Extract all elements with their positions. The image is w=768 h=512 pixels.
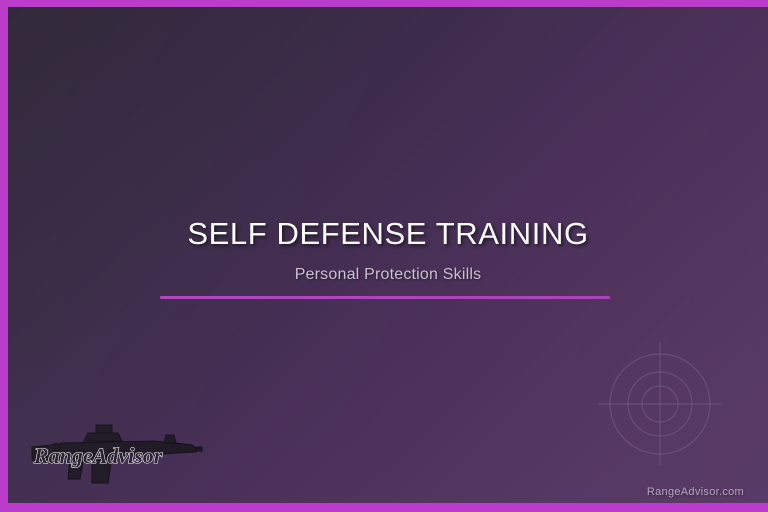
logo-wordmark: RangeAdvisor [33,443,163,468]
crosshair-target-icon [592,336,728,472]
accent-divider [160,296,610,299]
watermark-text: RangeAdvisor.com [647,486,744,498]
border-left [0,0,8,512]
border-top [0,0,768,7]
rifle-silhouette-icon: RangeAdvisor [26,419,204,491]
title-block: SELF DEFENSE TRAINING Personal Protectio… [8,215,768,285]
border-bottom [0,503,768,512]
page-subtitle: Personal Protection Skills [8,265,768,285]
slide-background: SELF DEFENSE TRAINING Personal Protectio… [8,7,768,503]
page-title: SELF DEFENSE TRAINING [8,215,768,253]
presentation-slide: SELF DEFENSE TRAINING Personal Protectio… [0,0,768,512]
